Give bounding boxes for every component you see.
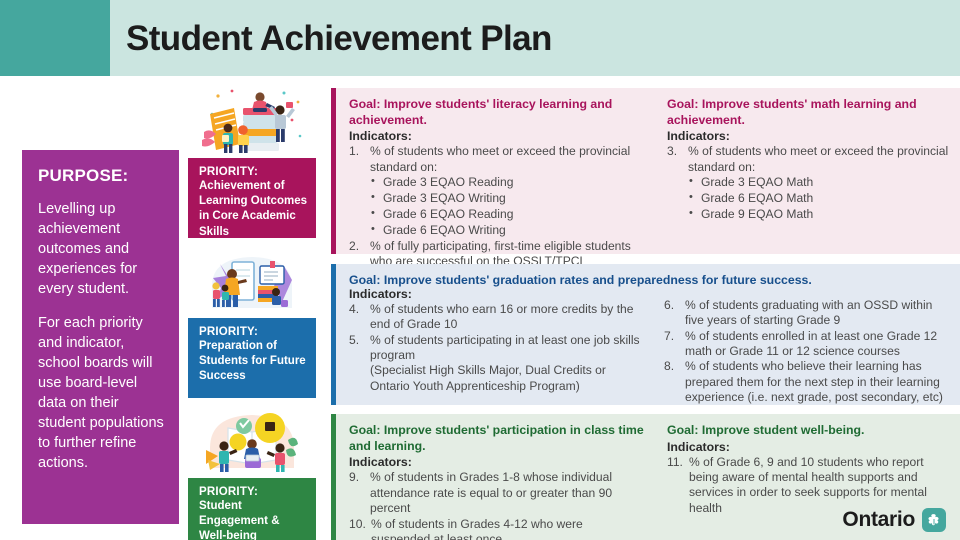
indicators-label-wellbeing: Indicators:	[667, 440, 950, 454]
header-banner: Student Achievement Plan	[110, 0, 960, 76]
indicator-item: 11. % of Grade 6, 9 and 10 students who …	[667, 455, 950, 516]
goal-column-participation: Goal: Improve students' participation in…	[336, 414, 654, 540]
indicator-sublist: Grade 3 EQAO Reading Grade 3 EQAO Writin…	[370, 175, 644, 239]
indicator-number: 5.	[349, 333, 367, 348]
priority-label-core-academic-skills: PRIORITY: Achievement of Learning Outcom…	[188, 158, 316, 238]
priority-text: Achievement of Learning Outcomes in Core…	[199, 179, 307, 240]
indicator-note: (Specialist High Skills Major, Dual Cred…	[370, 363, 644, 394]
indicator-item: 10. % of students in Grades 4-12 who wer…	[349, 517, 644, 540]
indicator-text: % of students who meet or exceed the pro…	[688, 144, 948, 173]
indicator-text: % of students in Grades 4-12 who were su…	[371, 517, 583, 540]
indicator-text: % of students who earn 16 or more credit…	[370, 302, 634, 331]
page-header: Student Achievement Plan	[0, 0, 960, 76]
indicator-text: % of students in Grades 1-8 whose indivi…	[370, 470, 612, 515]
ontario-wordmark: Ontario	[842, 508, 915, 532]
indicator-subitem: Grade 9 EQAO Math	[688, 207, 950, 223]
indicator-text: % of students who believe their learning…	[685, 359, 943, 404]
indicator-text: % of students enrolled in at least one G…	[685, 329, 937, 358]
goal-title-participation: Goal: Improve students' participation in…	[349, 423, 644, 454]
indicator-list-participation: 9. % of students in Grades 1-8 whose ind…	[349, 470, 644, 540]
priority-block-future-success: PRIORITY: Preparation of Students for Fu…	[188, 246, 316, 398]
indicator-subitem: Grade 3 EQAO Writing	[370, 191, 644, 207]
indicator-number: 10.	[349, 517, 370, 532]
goal-title-math: Goal: Improve students' math learning an…	[667, 97, 950, 128]
student-achievement-plan-infographic: Student Achievement Plan PURPOSE: Levell…	[0, 0, 960, 540]
indicators-label-graduation: Indicators:	[349, 287, 644, 301]
indicator-number: 9.	[349, 470, 367, 485]
indicator-list-literacy: 1. % of students who meet or exceed the …	[349, 144, 644, 269]
priority-block-core-academic-skills: PRIORITY: Achievement of Learning Outcom…	[188, 86, 316, 238]
indicator-subitem: Grade 3 EQAO Math	[688, 175, 950, 191]
indicator-item: 7. % of students enrolled in at least on…	[664, 329, 950, 360]
goal-column-literacy: Goal: Improve students' literacy learnin…	[336, 88, 654, 254]
indicator-number: 2.	[349, 239, 367, 254]
priority-text: Student Engagement & Well-being	[199, 499, 307, 540]
priority-kicker: PRIORITY:	[199, 166, 307, 178]
indicators-label-math: Indicators:	[667, 129, 950, 143]
students-collaborating-illustration	[188, 406, 316, 478]
indicator-list-math: 3. % of students who meet or exceed the …	[667, 144, 950, 223]
ontario-trillium-icon	[922, 508, 946, 532]
ontario-logo: Ontario	[842, 508, 946, 532]
indicator-item: 5. % of students participating in at lea…	[349, 333, 644, 394]
indicator-item: 9. % of students in Grades 1-8 whose ind…	[349, 470, 644, 516]
goal-column-math: Goal: Improve students' math learning an…	[654, 88, 960, 254]
purpose-paragraph-2: For each priority and indicator, school …	[38, 313, 165, 473]
goal-panel-graduation: Goal: Improve students' graduation rates…	[331, 264, 960, 405]
goal-column-wellbeing: Goal: Improve student well-being. Indica…	[654, 414, 960, 540]
goal-title-graduation: Goal: Improve students' graduation rates…	[349, 273, 812, 287]
indicator-number: 7.	[664, 329, 682, 344]
indicator-subitem: Grade 6 EQAO Reading	[370, 207, 644, 223]
teacher-at-board-illustration	[188, 246, 316, 318]
indicator-text: % of students graduating with an OSSD wi…	[685, 298, 932, 327]
goal-title-wellbeing: Goal: Improve student well-being.	[667, 423, 950, 439]
indicator-subitem: Grade 6 EQAO Writing	[370, 223, 644, 239]
indicator-item: 1. % of students who meet or exceed the …	[349, 144, 644, 239]
priority-column: PRIORITY: Achievement of Learning Outcom…	[188, 86, 316, 538]
goal-panel-engagement-wellbeing: Goal: Improve students' participation in…	[331, 414, 960, 540]
indicator-list-wellbeing: 11. % of Grade 6, 9 and 10 students who …	[667, 455, 950, 516]
priority-kicker: PRIORITY:	[199, 326, 307, 338]
indicator-item: 3. % of students who meet or exceed the …	[667, 144, 950, 223]
priority-label-future-success: PRIORITY: Preparation of Students for Fu…	[188, 318, 316, 398]
indicator-sublist: Grade 3 EQAO Math Grade 6 EQAO Math Grad…	[688, 175, 950, 223]
priority-text: Preparation of Students for Future Succe…	[199, 339, 307, 385]
indicators-label-participation: Indicators:	[349, 455, 644, 469]
indicator-subitem: Grade 3 EQAO Reading	[370, 175, 644, 191]
indicator-number: 1.	[349, 144, 367, 159]
priority-block-engagement-wellbeing: PRIORITY: Student Engagement & Well-bein…	[188, 406, 316, 540]
indicator-number: 11.	[667, 455, 688, 470]
purpose-panel: PURPOSE: Levelling up achievement outcom…	[22, 150, 179, 524]
indicators-label-literacy: Indicators:	[349, 129, 644, 143]
indicator-number: 8.	[664, 359, 682, 374]
indicator-number: 6.	[664, 298, 682, 313]
indicator-text: % of students participating in at least …	[370, 333, 640, 362]
indicator-subitem: Grade 6 EQAO Math	[688, 191, 950, 207]
priority-label-engagement-wellbeing: PRIORITY: Student Engagement & Well-bein…	[188, 478, 316, 540]
purpose-title: PURPOSE:	[38, 166, 165, 186]
indicator-text: % of Grade 6, 9 and 10 students who repo…	[689, 455, 927, 515]
priority-kicker: PRIORITY:	[199, 486, 307, 498]
indicator-text: % of students who meet or exceed the pro…	[370, 144, 630, 173]
indicator-list-graduation-right: 6. % of students graduating with an OSSD…	[664, 298, 950, 405]
goal-title-literacy: Goal: Improve students' literacy learnin…	[349, 97, 644, 128]
indicator-number: 4.	[349, 302, 367, 317]
indicator-item: 6. % of students graduating with an OSSD…	[664, 298, 950, 329]
page-title: Student Achievement Plan	[110, 21, 552, 56]
purpose-paragraph-1: Levelling up achievement outcomes and ex…	[38, 199, 165, 299]
indicator-number: 3.	[667, 144, 685, 159]
header-accent-swatch	[0, 0, 110, 76]
indicator-list-graduation-left: 4. % of students who earn 16 or more cre…	[349, 302, 644, 394]
goal-panel-literacy-math: Goal: Improve students' literacy learnin…	[331, 88, 960, 254]
indicator-item: 8. % of students who believe their learn…	[664, 359, 950, 405]
students-with-books-illustration	[188, 86, 316, 158]
indicator-item: 4. % of students who earn 16 or more cre…	[349, 302, 644, 333]
